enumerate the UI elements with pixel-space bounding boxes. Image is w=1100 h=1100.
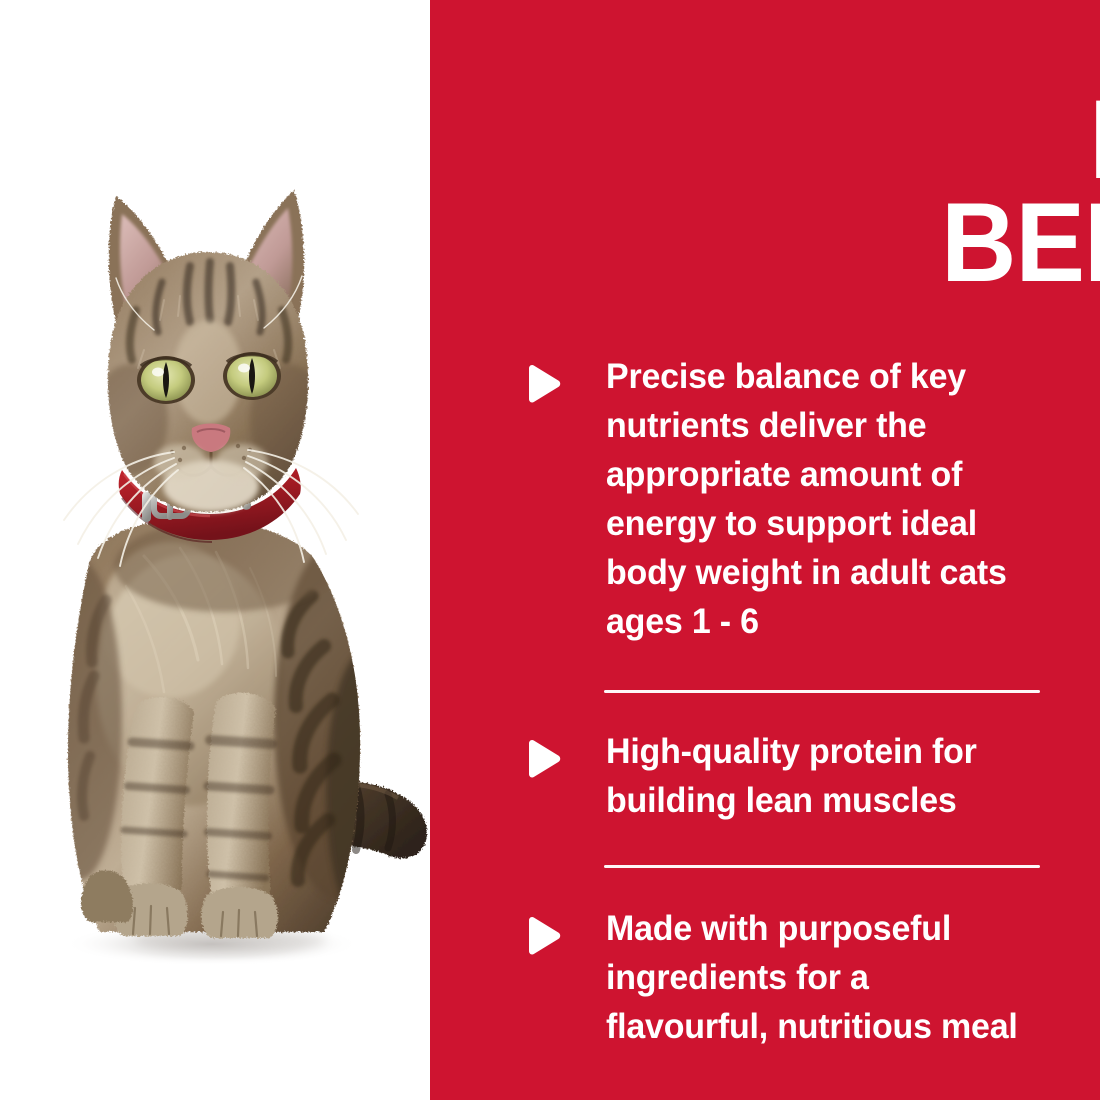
list-item: High-quality protein for building lean m…	[430, 727, 1100, 825]
play-triangle-icon	[524, 364, 562, 404]
cat-body	[38, 519, 406, 938]
benefit-text: High-quality protein for building lean m…	[606, 727, 1027, 825]
cat-photo	[0, 0, 430, 1100]
page-title: KEY BENEFITS	[860, 88, 1100, 294]
spacer	[430, 646, 1100, 690]
cat-head	[64, 190, 358, 566]
cat-illustration	[0, 0, 430, 1100]
divider	[604, 690, 1040, 693]
list-item: Made with purposeful ingredients for a f…	[430, 904, 1100, 1051]
spacer	[430, 825, 1100, 865]
play-triangle-icon	[524, 916, 562, 956]
benefit-text: Made with purposeful ingredients for a f…	[606, 904, 1027, 1051]
list-item: Precise balance of key nutrients deliver…	[430, 352, 1100, 646]
cat-eye-right	[223, 352, 281, 400]
key-benefits-panel: KEY BENEFITS Precise balance of key nutr…	[0, 0, 1100, 1100]
title-line-key: KEY	[883, 88, 1100, 191]
play-triangle-icon	[524, 739, 562, 779]
spacer	[430, 693, 1100, 727]
title-line-benefits: BENEFITS	[883, 191, 1100, 294]
cat-eye-left	[137, 356, 195, 404]
benefit-text: Precise balance of key nutrients deliver…	[606, 352, 1027, 646]
spacer	[430, 868, 1100, 904]
benefits-list: Precise balance of key nutrients deliver…	[430, 352, 1100, 1051]
divider	[604, 865, 1040, 868]
